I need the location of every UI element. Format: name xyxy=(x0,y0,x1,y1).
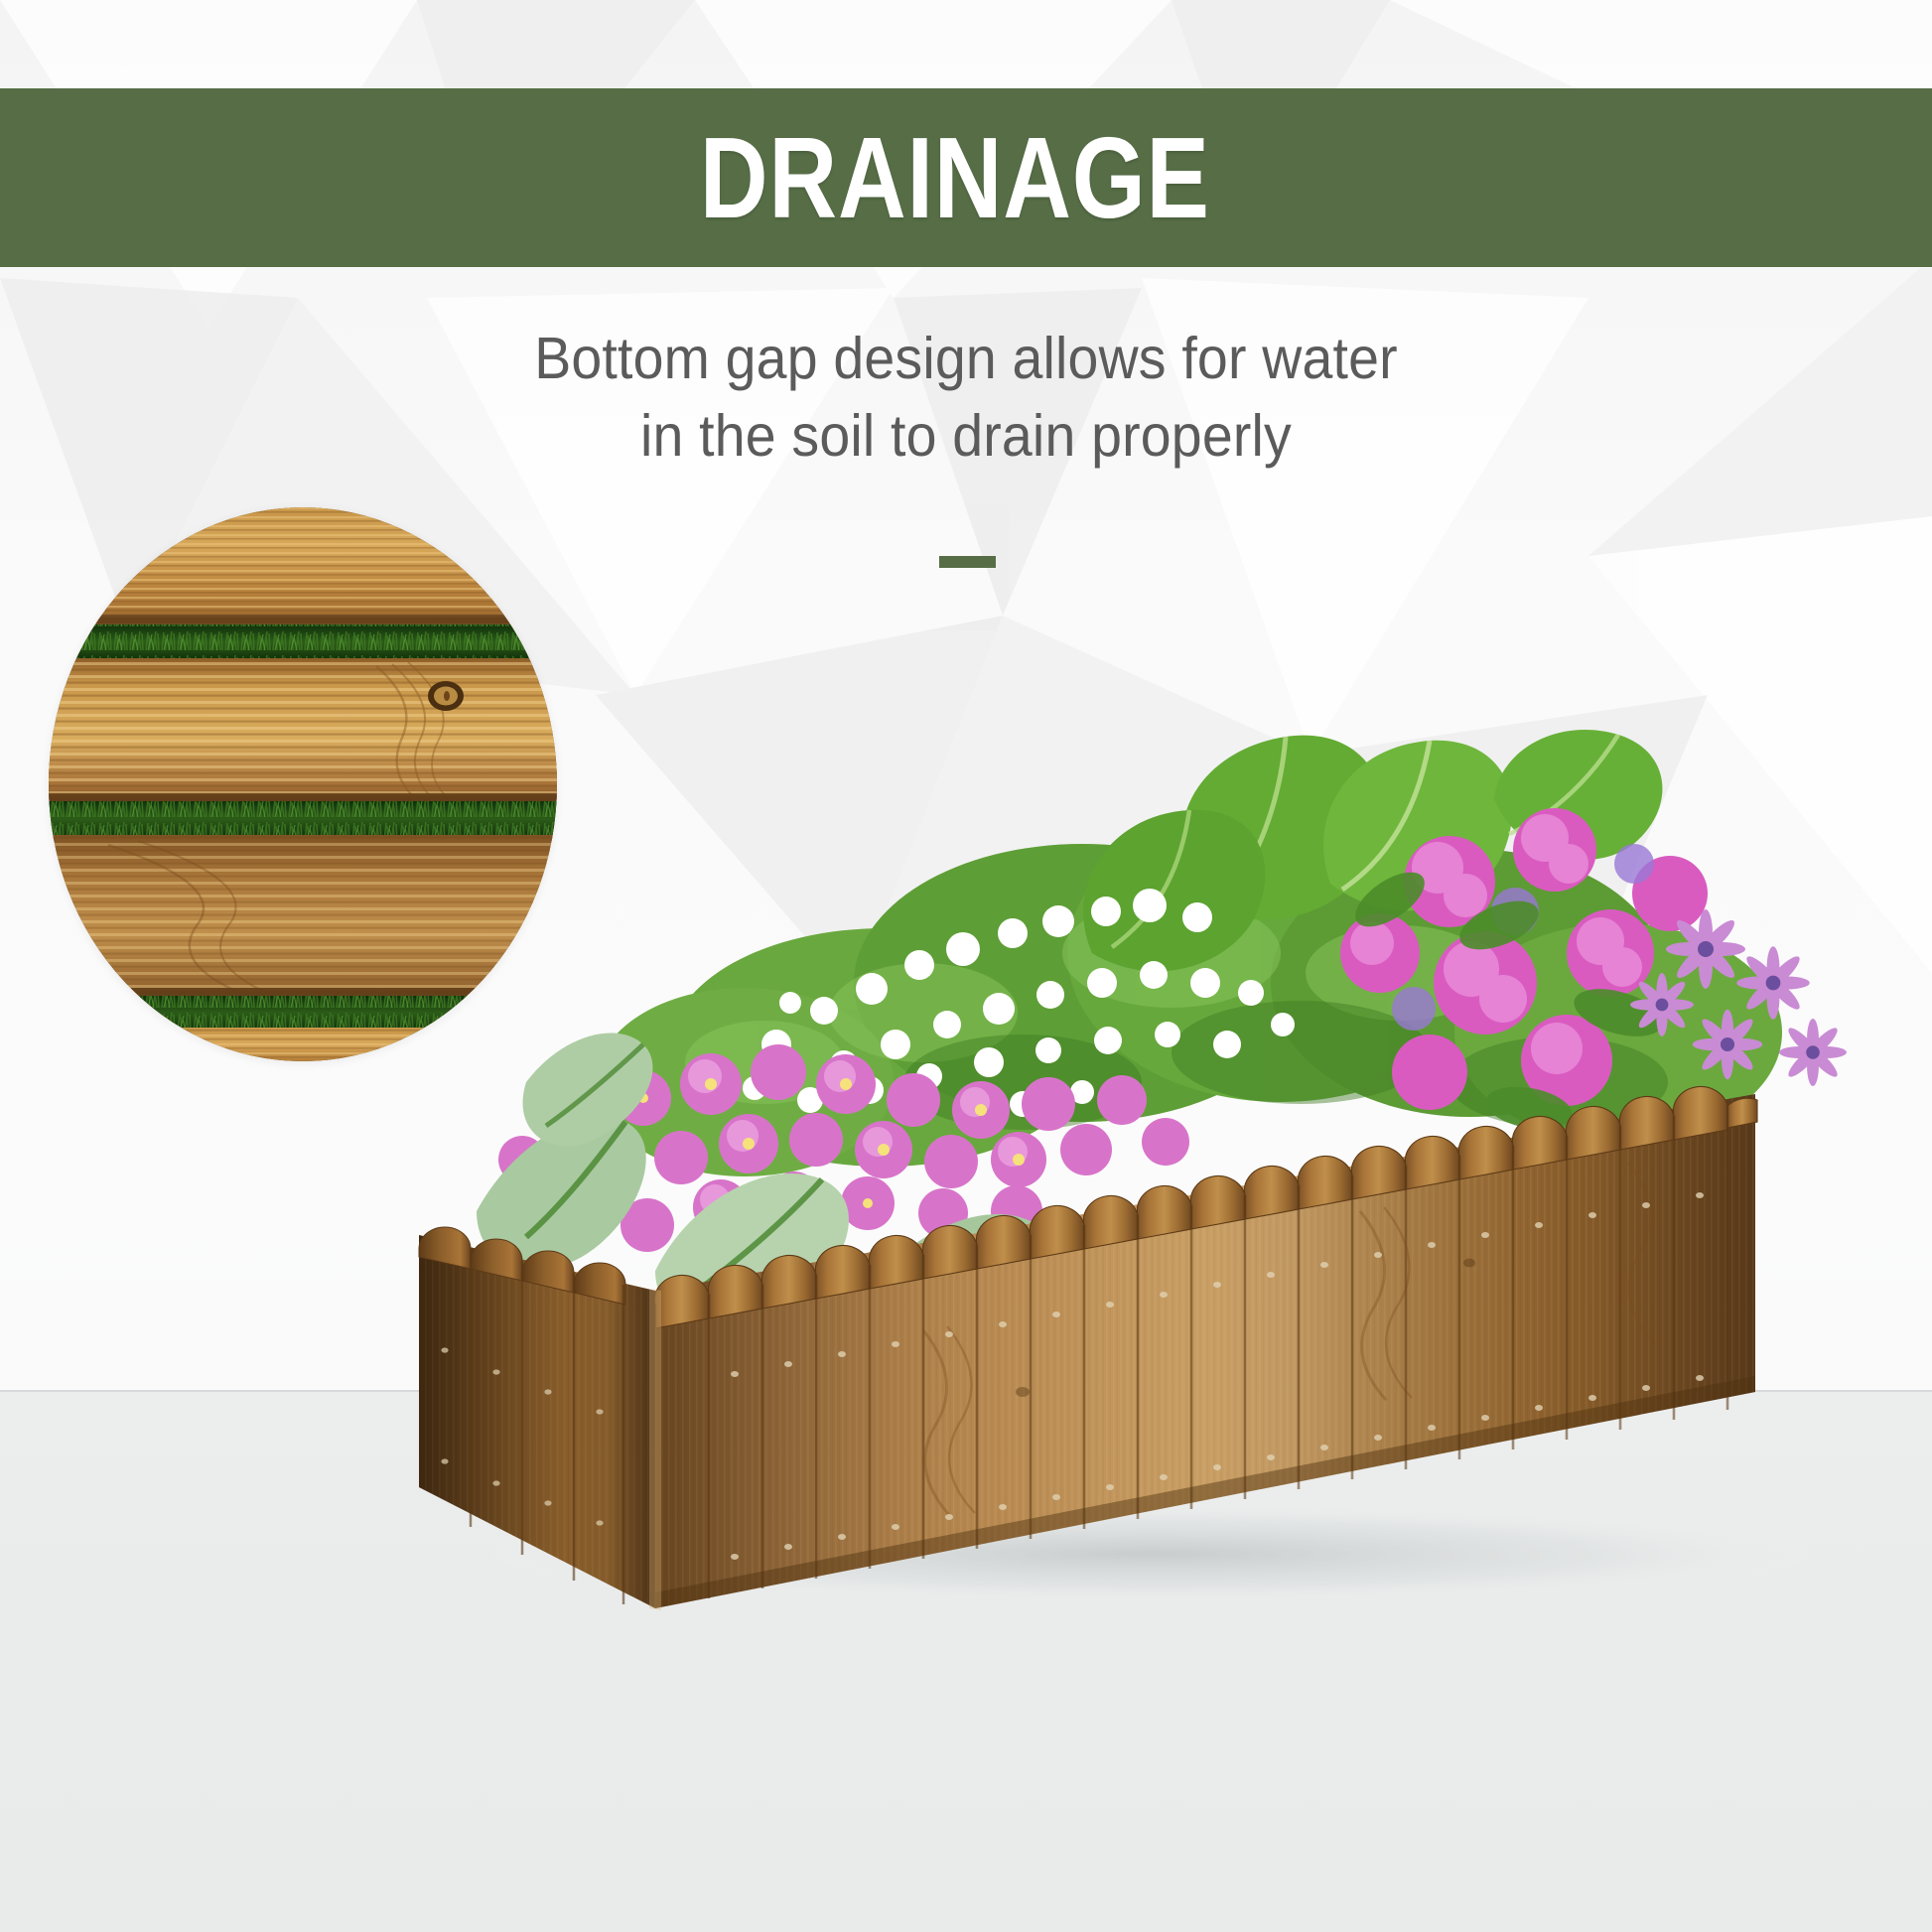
header-banner: DRAINAGE xyxy=(0,88,1932,267)
corner-highlight xyxy=(649,1289,661,1610)
product-feature-image: DRAINAGE Bottom gap design allows for wa… xyxy=(0,0,1932,1932)
page-title: DRAINAGE xyxy=(700,120,1210,235)
section-divider-dash xyxy=(939,556,996,568)
feature-description-line-1: Bottom gap design allows for water xyxy=(58,320,1873,397)
feature-description: Bottom gap design allows for water in th… xyxy=(58,320,1873,476)
feature-description-line-2: in the soil to drain properly xyxy=(58,397,1873,475)
product-photo xyxy=(328,655,1857,1658)
